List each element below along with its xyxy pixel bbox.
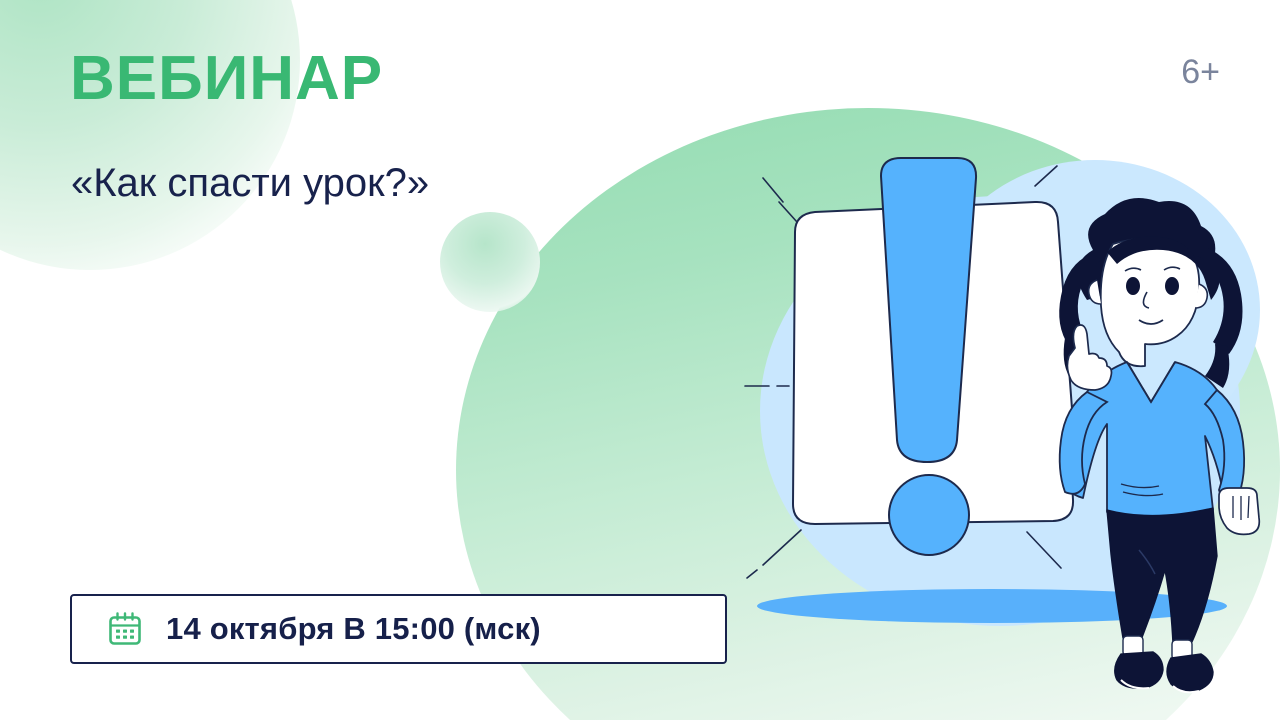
hand-down [1219, 488, 1259, 534]
illustration-woman-with-exclamation [735, 140, 1255, 620]
age-rating-label: 6+ [1181, 55, 1220, 89]
small-green-gradient-circle [440, 212, 540, 312]
calendar-icon [108, 612, 142, 646]
eye-right [1165, 277, 1179, 295]
green-gradient-corner-blob [0, 0, 300, 270]
woman-character [1059, 198, 1259, 692]
exclamation-mark-dot [889, 475, 969, 555]
date-badge[interactable]: 14 октября В 15:00 (мск) [70, 594, 727, 664]
date-badge-text: 14 октября В 15:00 (мск) [166, 611, 541, 647]
slide-canvas: ВЕБИНАР «Как спасти урок?» 6+ 14 [0, 0, 1280, 720]
page-subtitle: «Как спасти урок?» [71, 160, 429, 206]
eye-left [1126, 277, 1140, 295]
page-title: ВЕБИНАР [70, 48, 383, 110]
shoe-left [1115, 652, 1163, 688]
hand-pointing-up [1067, 325, 1111, 390]
